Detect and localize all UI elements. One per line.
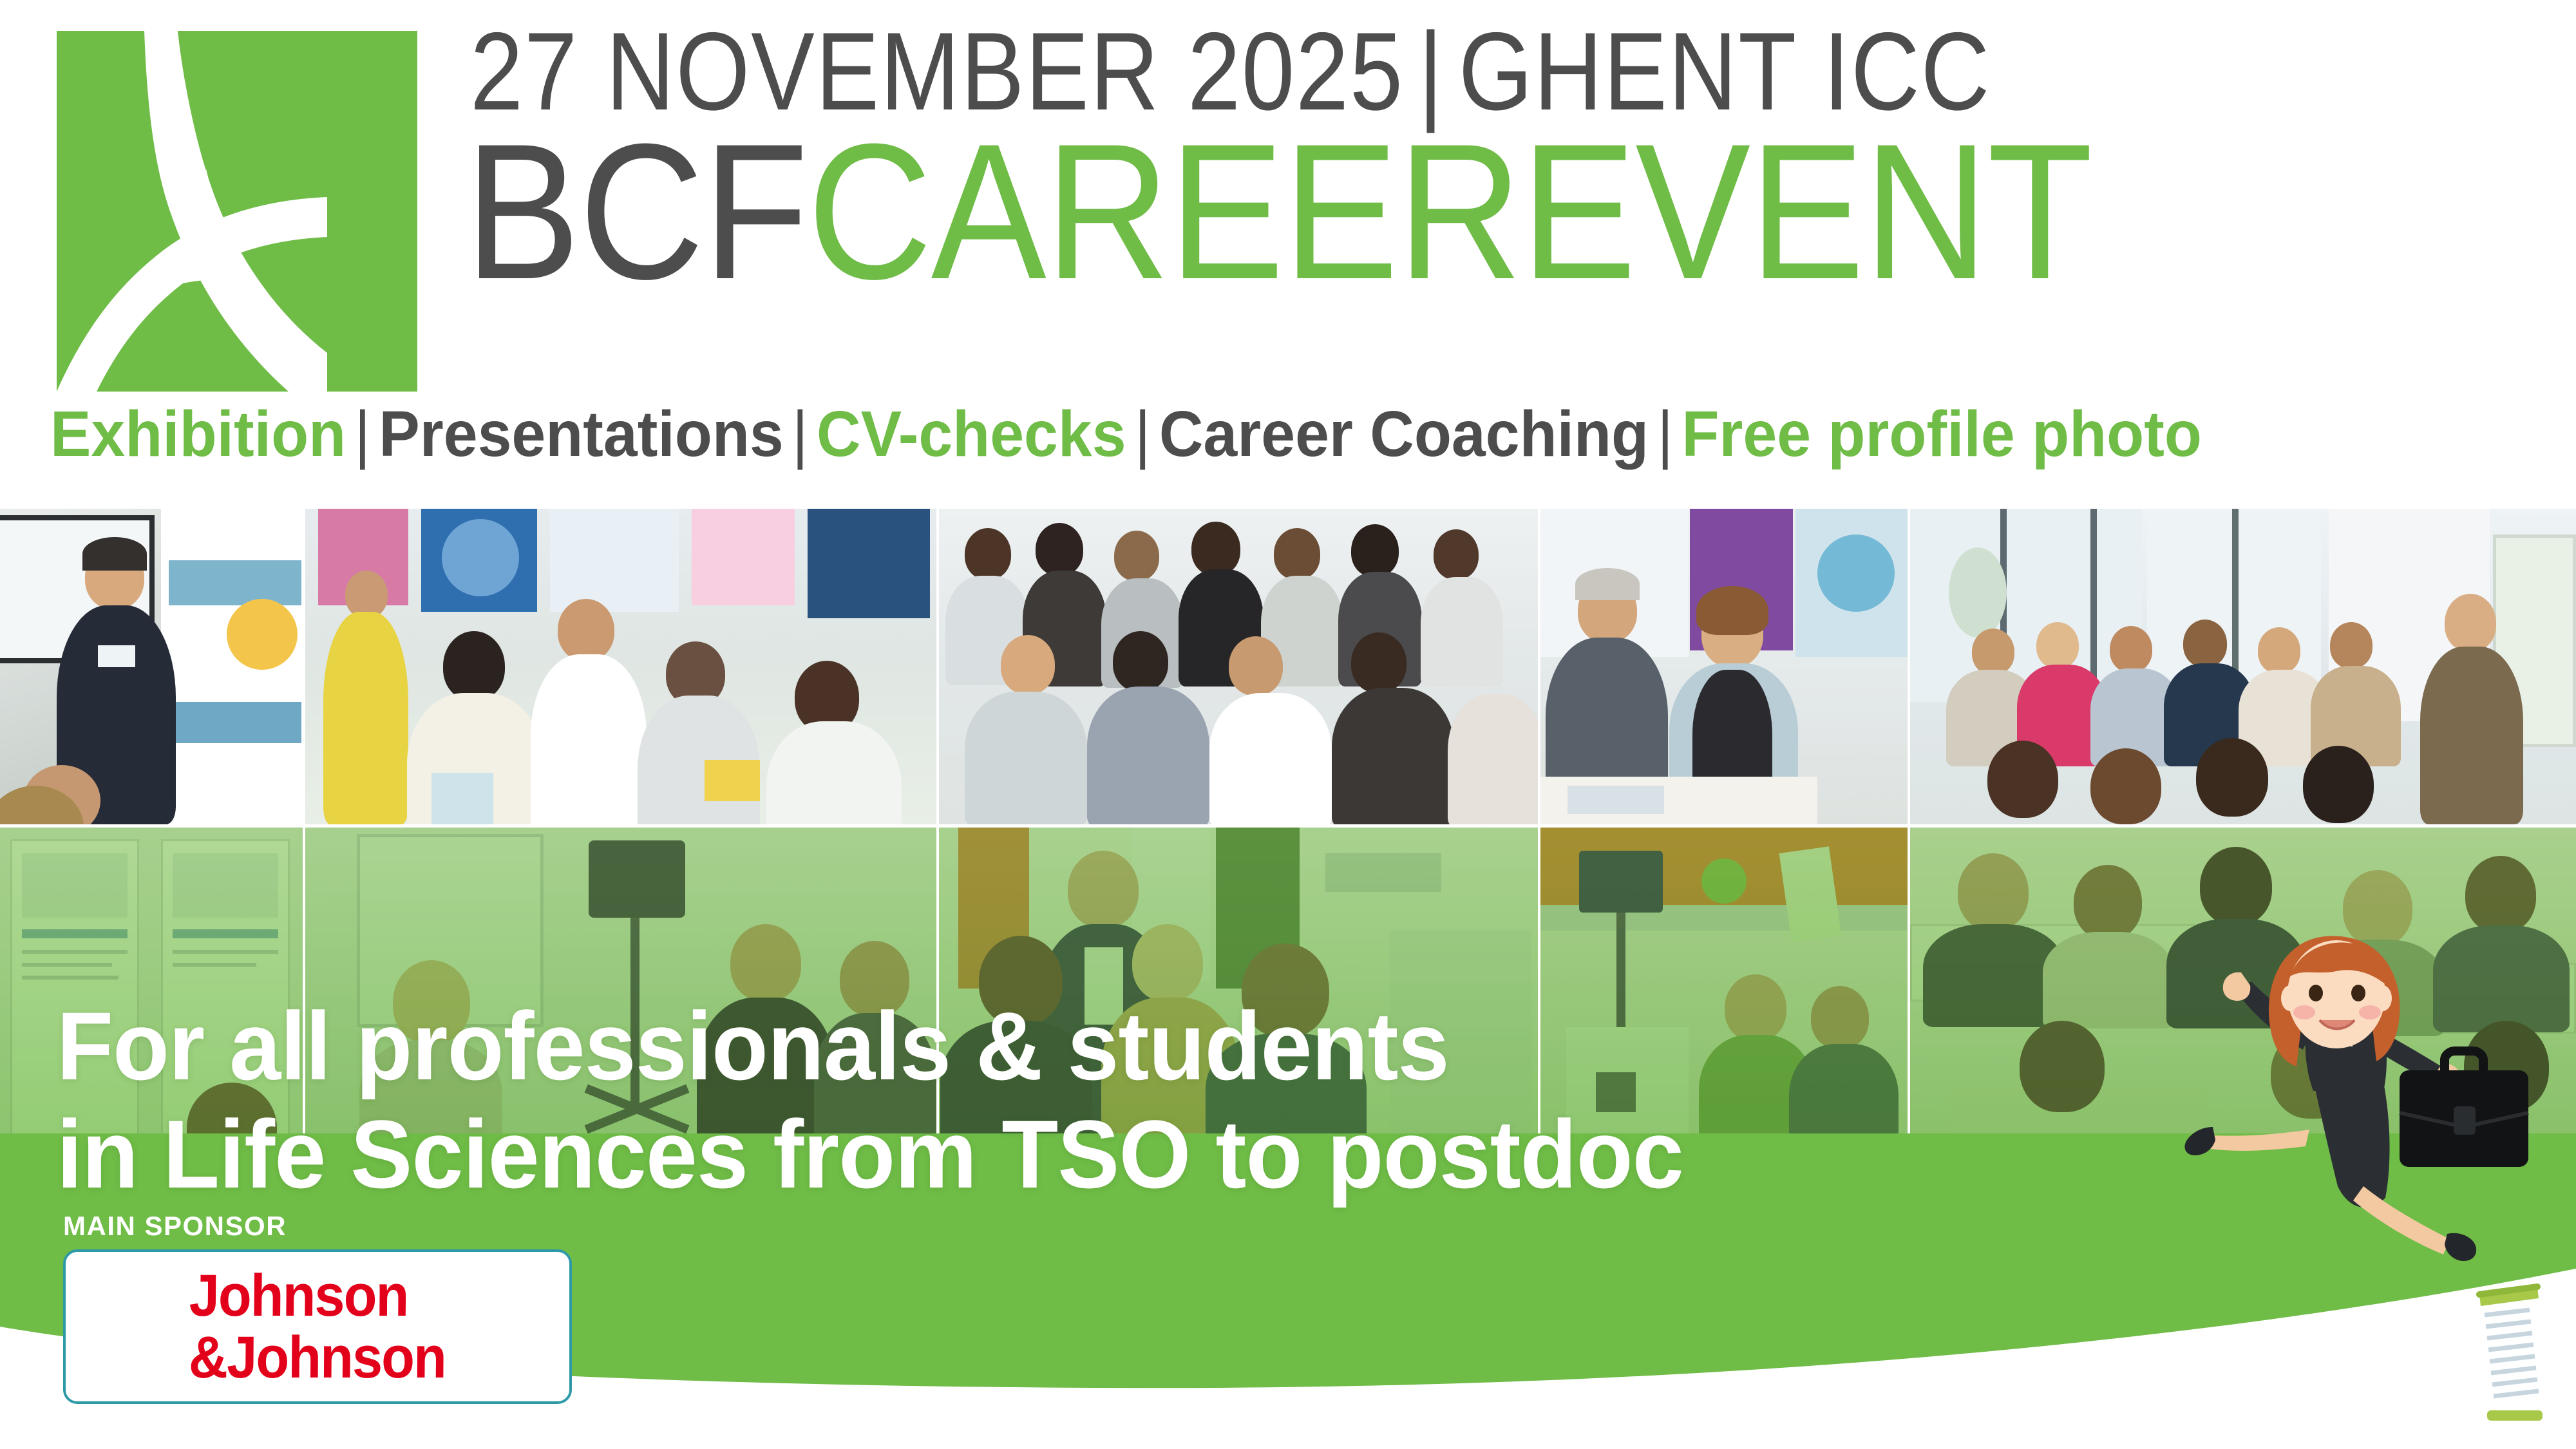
- service-separator-1: |: [346, 398, 379, 470]
- jj-logo-line-1: Johnson: [189, 1265, 446, 1327]
- photo-coaching-conversation: [1540, 509, 1908, 824]
- headline-line-2: in Life Sciences from TSO to postdoc: [57, 1100, 1850, 1208]
- main-sponsor-label: MAIN SPONSOR: [63, 1211, 287, 1242]
- johnson-and-johnson-logo[interactable]: Johnson &Johnson: [63, 1249, 572, 1404]
- service-separator-2: |: [784, 398, 817, 470]
- event-title: BCFCAREEREVENT: [465, 115, 2367, 308]
- photo-speaker-presentation: [0, 509, 303, 824]
- service-item-exhibition: Exhibition: [50, 398, 346, 470]
- service-item-free-profile-photo: Free profile photo: [1681, 398, 2202, 470]
- photo-exhibition-networking: [305, 509, 936, 824]
- jj-logo-line-2: &Johnson: [189, 1327, 446, 1388]
- photo-strip-top: [0, 509, 2576, 824]
- service-separator-3: |: [1126, 398, 1159, 470]
- service-item-career-coaching: Career Coaching: [1159, 398, 1649, 470]
- service-item-presentations: Presentations: [379, 398, 783, 470]
- event-title-career: CAREEREVENT: [808, 103, 2092, 319]
- jj-logo-text: Johnson &Johnson: [189, 1265, 447, 1388]
- main-headline: For all professionals & students in Life…: [57, 992, 1850, 1208]
- services-list: Exhibition|Presentations|CV-checks|Caree…: [50, 399, 2412, 470]
- photo-presentation-room: [1910, 509, 2576, 824]
- headline-line-1: For all professionals & students: [57, 992, 1449, 1100]
- bcf-logo-mark: [57, 31, 417, 392]
- bcf-career-event-banner: 27 NOVEMBER 2025|GHENT ICC BCFCAREEREVEN…: [0, 0, 2576, 1449]
- header-text-block: 27 NOVEMBER 2025|GHENT ICC BCFCAREEREVEN…: [470, 6, 2550, 406]
- photo-roundtable-discussion: [1910, 828, 2576, 1166]
- banner-header: 27 NOVEMBER 2025|GHENT ICC BCFCAREEREVEN…: [0, 0, 2576, 509]
- service-item-cv-checks: CV-checks: [817, 398, 1126, 470]
- event-title-bcf: BCF: [465, 103, 808, 319]
- service-separator-4: |: [1649, 398, 1681, 470]
- photo-audience-seated: [939, 509, 1538, 824]
